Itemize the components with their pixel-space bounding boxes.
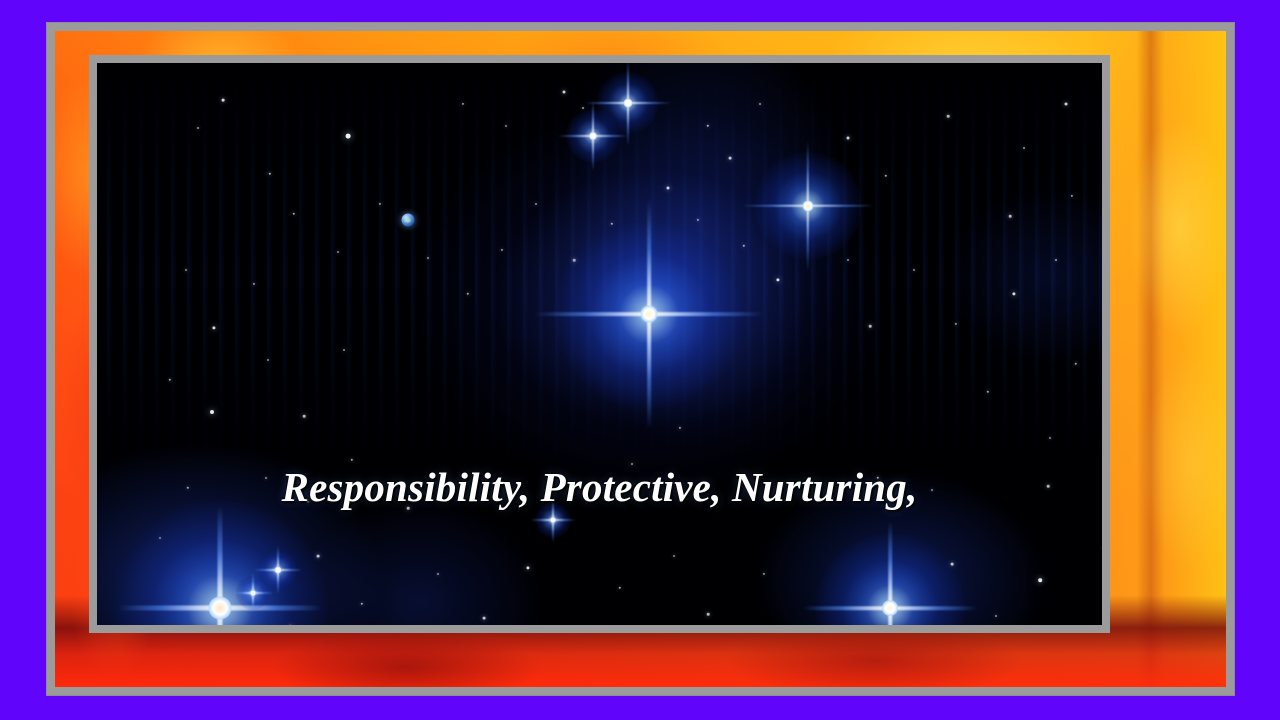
small-star [947, 115, 950, 118]
small-star [307, 501, 309, 503]
small-star [351, 459, 353, 461]
star-halo [754, 152, 862, 260]
star-spike-horizontal [118, 605, 323, 610]
star-core [624, 99, 633, 108]
outer-frame-border: Responsibility, Protective, Nurturing, B… [47, 23, 1234, 695]
blue-nebula-glow [97, 63, 1102, 625]
star-halo [815, 533, 965, 625]
star-spike-vertical [217, 506, 222, 626]
small-star [847, 137, 850, 140]
inner-frame-border: Responsibility, Protective, Nurturing, B… [89, 55, 1110, 633]
small-star [582, 107, 584, 109]
small-star [877, 477, 879, 479]
small-star [427, 257, 429, 259]
small-star [619, 587, 621, 589]
small-star [303, 415, 306, 418]
small-star [535, 203, 537, 205]
small-star [1071, 195, 1073, 197]
small-star [253, 283, 255, 285]
star-spike-horizontal [803, 606, 978, 610]
caption-line-1: Responsibility, Protective, Nurturing, [97, 457, 1102, 518]
small-star [679, 427, 681, 429]
star-spike-horizontal [531, 519, 575, 521]
star-halo [258, 550, 298, 590]
small-star [1055, 259, 1057, 261]
small-star [1023, 147, 1025, 149]
small-star [483, 617, 486, 620]
star-core [250, 590, 256, 596]
small-star [631, 463, 633, 465]
star-spike-vertical [252, 573, 254, 613]
small-star [293, 213, 295, 215]
star-spike-horizontal [585, 102, 671, 104]
star-spike-vertical [277, 546, 279, 594]
small-star [407, 507, 410, 510]
starfield-panel: Responsibility, Protective, Nurturing, B… [97, 63, 1102, 625]
small-star [707, 125, 709, 127]
small-star [951, 563, 954, 566]
planet-earth-icon [402, 214, 415, 227]
slide-canvas: Responsibility, Protective, Nurturing, B… [0, 0, 1280, 720]
small-star [847, 259, 849, 261]
star-halo [566, 109, 620, 163]
small-star [1012, 292, 1015, 295]
small-star [437, 573, 439, 575]
small-star [885, 175, 887, 177]
small-star [185, 269, 187, 271]
star-core [275, 567, 282, 574]
small-star [776, 278, 779, 281]
small-star [222, 99, 225, 102]
caption-text-block: Responsibility, Protective, Nurturing, B… [97, 335, 1102, 625]
small-star [187, 487, 189, 489]
small-star [759, 103, 761, 105]
star-spike-horizontal [254, 569, 302, 571]
star-halo [554, 219, 744, 409]
small-star [987, 391, 989, 393]
star-spike-vertical [807, 140, 809, 272]
small-star [913, 269, 915, 271]
small-star [265, 477, 267, 479]
small-star [1038, 578, 1042, 582]
small-star [763, 573, 765, 575]
small-star [611, 223, 613, 225]
star-core [882, 600, 898, 616]
small-star [1009, 215, 1012, 218]
small-star [995, 615, 997, 617]
star-spike-horizontal [534, 312, 764, 316]
small-star [212, 326, 215, 329]
star-core [641, 306, 658, 323]
small-star [169, 379, 171, 381]
star-core [209, 597, 232, 620]
small-star [467, 293, 469, 295]
small-star [667, 187, 670, 190]
small-star [573, 259, 576, 262]
small-star [361, 603, 363, 605]
star-halo [535, 502, 571, 538]
small-star [505, 125, 507, 127]
small-star [743, 245, 745, 247]
star-spike-vertical [627, 63, 629, 146]
star-spike-horizontal [742, 205, 874, 207]
star-halo [236, 576, 270, 610]
star-core [803, 201, 814, 212]
small-star [1049, 437, 1051, 439]
small-star [563, 91, 566, 94]
small-star [1047, 485, 1050, 488]
small-star [159, 537, 161, 539]
small-star [343, 349, 345, 351]
star-spike-vertical [647, 199, 651, 429]
small-star [869, 325, 872, 328]
small-star [1065, 103, 1068, 106]
small-star [729, 157, 732, 160]
star-halo [113, 501, 328, 626]
small-star [337, 251, 339, 253]
fire-texture-frame: Responsibility, Protective, Nurturing, B… [55, 31, 1226, 687]
star-spike-vertical [592, 101, 594, 171]
small-star [955, 323, 957, 325]
small-star [379, 203, 381, 205]
star-spike-vertical [552, 498, 554, 542]
small-star [1075, 363, 1077, 365]
small-star [931, 489, 933, 491]
star-halo [597, 72, 659, 134]
star-core [550, 517, 556, 523]
small-star [269, 173, 271, 175]
small-star [197, 127, 199, 129]
small-star [673, 555, 675, 557]
small-star [346, 134, 351, 139]
nebula-light-rays [97, 63, 1102, 625]
small-star [526, 566, 529, 569]
star-spike-horizontal [558, 135, 628, 137]
small-star [707, 613, 710, 616]
star-core [589, 132, 597, 140]
small-star [267, 359, 269, 361]
small-star [317, 555, 320, 558]
star-spike-horizontal [233, 592, 273, 594]
small-star [501, 249, 503, 251]
star-spike-vertical [888, 521, 892, 626]
small-star [462, 103, 464, 105]
small-star [210, 410, 214, 414]
small-star [697, 219, 699, 221]
